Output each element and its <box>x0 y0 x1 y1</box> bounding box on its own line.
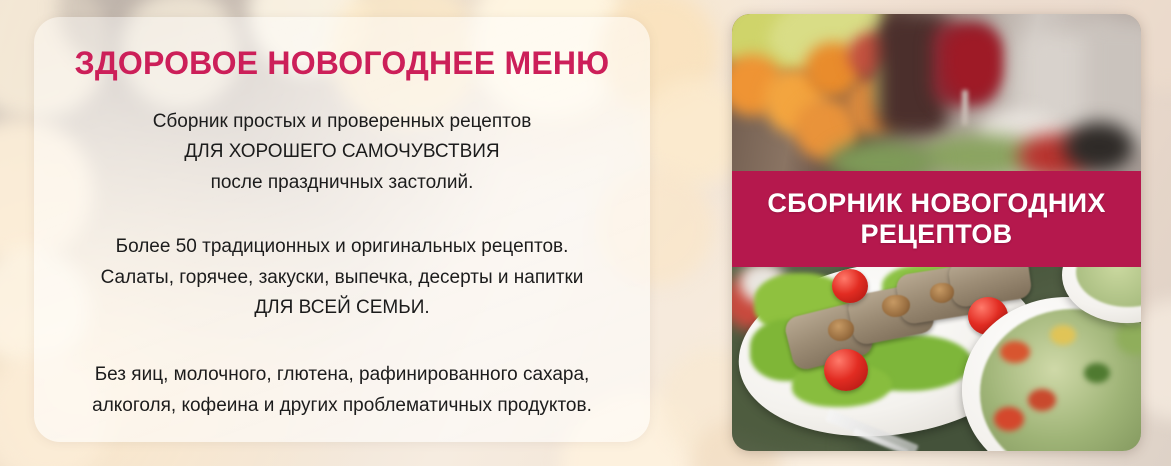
cherry-tomato <box>832 269 868 303</box>
recipes-line-3: ДЛЯ ВСЕЙ СЕМЬИ. <box>101 293 584 324</box>
cover-title-line-2: РЕЦЕПТОВ <box>767 219 1105 250</box>
free-from-line-2: алкоголя, кофеина и других проблематичны… <box>92 391 592 422</box>
intro-line-1: Сборник простых и проверенных рецептов <box>153 107 532 138</box>
free-from-paragraph: Без яиц, молочного, глютена, рафинирован… <box>92 360 592 422</box>
intro-paragraph: Сборник простых и проверенных рецептов Д… <box>153 107 532 199</box>
holiday-table-photo <box>732 14 1141 180</box>
food-dishes-photo <box>732 267 1141 451</box>
cover-title-text: СБОРНИК НОВОГОДНИХ РЕЦЕПТОВ <box>767 188 1105 250</box>
recipes-line-1: Более 50 традиционных и оригинальных рец… <box>101 232 584 263</box>
cherry-tomato <box>824 349 868 391</box>
free-from-line-1: Без яиц, молочного, глютена, рафинирован… <box>92 360 592 391</box>
recipes-paragraph: Более 50 традиционных и оригинальных рец… <box>101 232 584 324</box>
page-title: ЗДОРОВОЕ НОВОГОДНЕЕ МЕНЮ <box>75 47 610 81</box>
cover-title-line-1: СБОРНИК НОВОГОДНИХ <box>767 188 1105 219</box>
cover-title-banner: СБОРНИК НОВОГОДНИХ РЕЦЕПТОВ <box>732 171 1141 267</box>
info-card: ЗДОРОВОЕ НОВОГОДНЕЕ МЕНЮ Сборник простых… <box>34 17 650 442</box>
intro-line-2: ДЛЯ ХОРОШЕГО САМОЧУВСТВИЯ <box>153 137 532 168</box>
intro-line-3: после праздничных застолий. <box>153 168 532 199</box>
promo-banner-stage: ЗДОРОВОЕ НОВОГОДНЕЕ МЕНЮ Сборник простых… <box>0 0 1171 466</box>
recipes-line-2: Салаты, горячее, закуски, выпечка, десер… <box>101 263 584 294</box>
recipe-book-cover-card: СБОРНИК НОВОГОДНИХ РЕЦЕПТОВ <box>732 14 1141 451</box>
